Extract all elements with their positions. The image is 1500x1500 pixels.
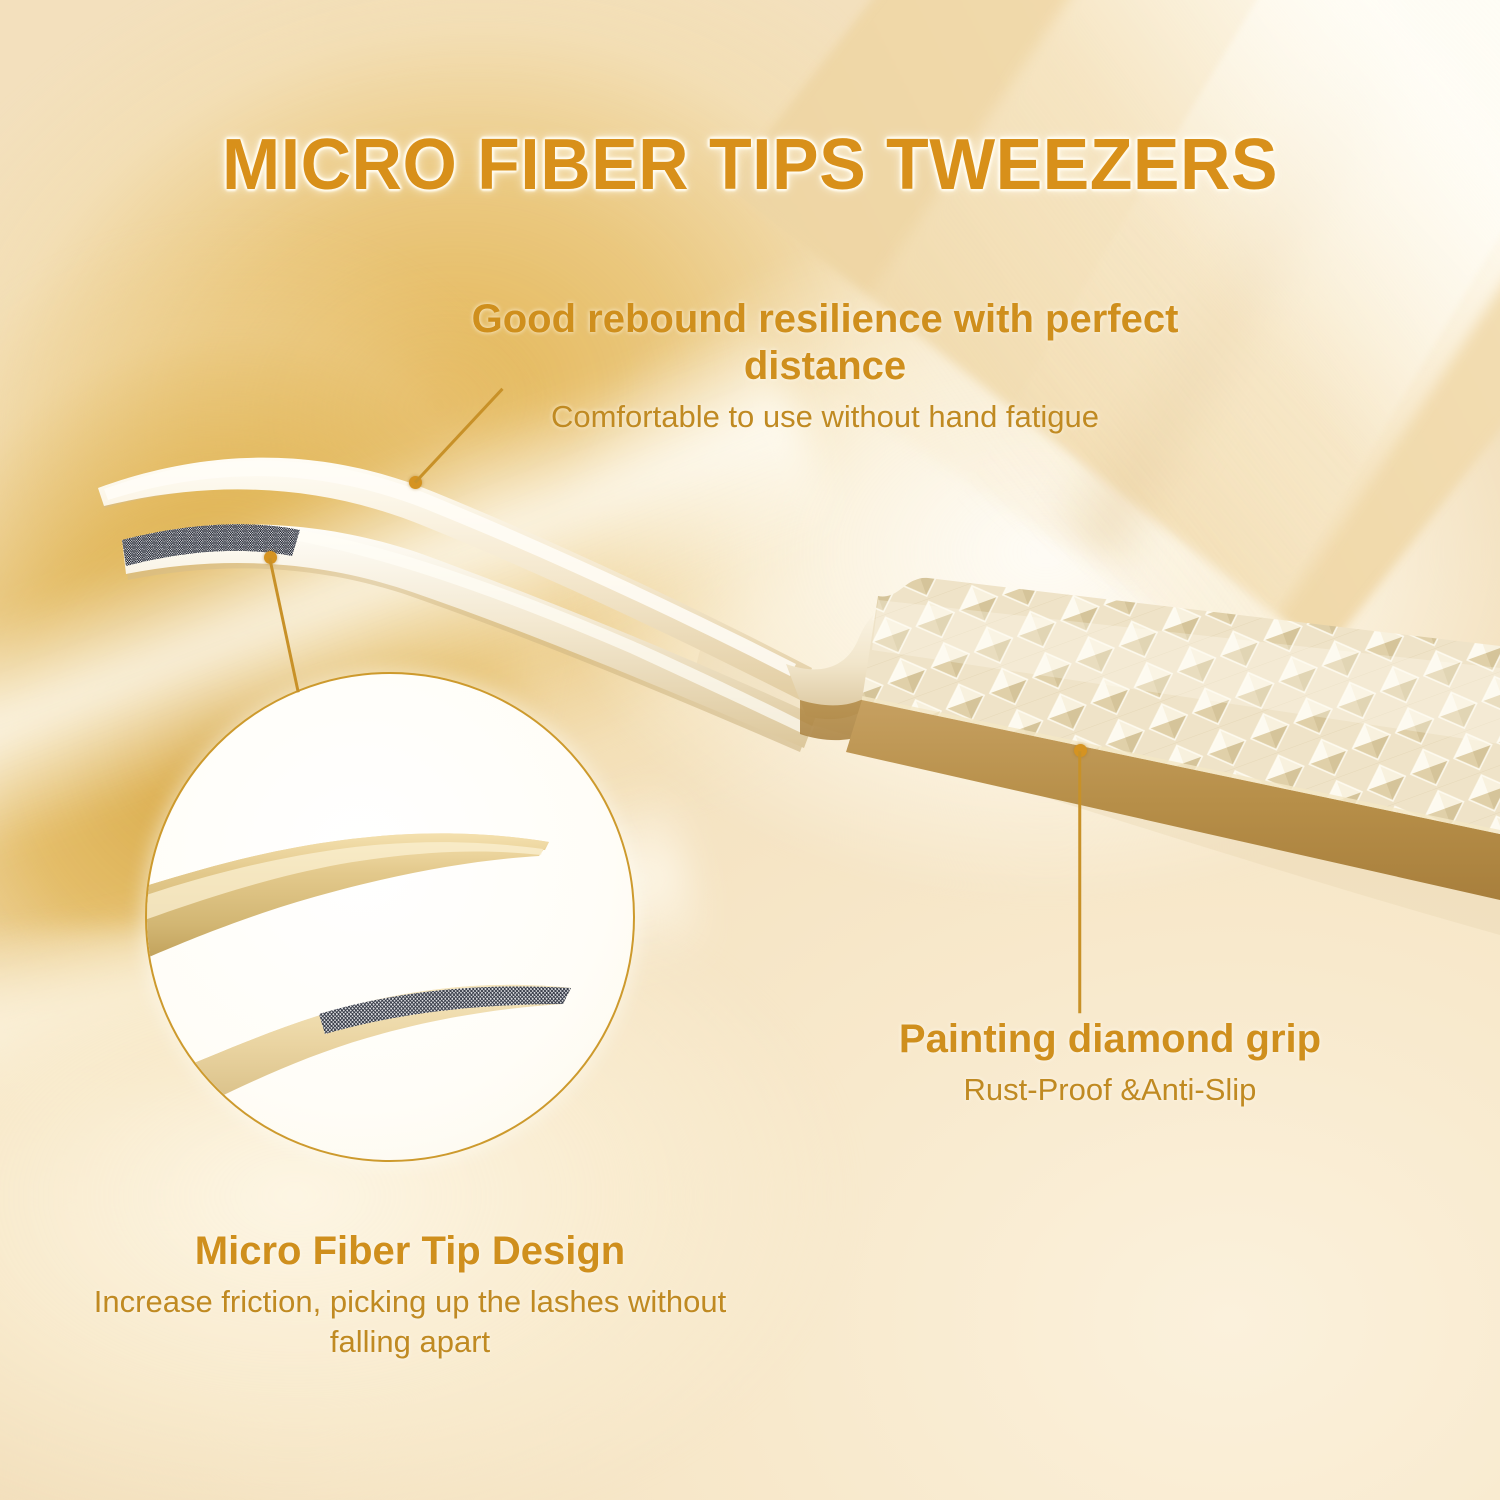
callout-grip-heading: Painting diamond grip [800, 1016, 1420, 1063]
product-infographic: MICRO FIBER TIPS TWEEZERS [0, 0, 1500, 1500]
callout-fiber-tip-heading: Micro Fiber Tip Design [60, 1228, 760, 1275]
callout-grip-subtext: Rust-Proof &Anti-Slip [800, 1070, 1420, 1110]
callout-rebound-subtext: Comfortable to use without hand fatigue [430, 397, 1220, 437]
magnified-lower-tip [165, 970, 587, 1124]
callout-rebound-heading: Good rebound resilience with perfect dis… [430, 296, 1220, 390]
callout-fiber-tip: Micro Fiber Tip Design Increase friction… [60, 1228, 760, 1363]
page-title: MICRO FIBER TIPS TWEEZERS [23, 124, 1478, 206]
magnified-upper-tip [147, 833, 549, 964]
magnified-tip-detail [145, 672, 635, 1162]
callout-fiber-tip-subtext: Increase friction, picking up the lashes… [60, 1282, 760, 1363]
magnified-tips-svg [147, 674, 633, 1160]
leader-line-grip [1079, 751, 1082, 1013]
callout-rebound: Good rebound resilience with perfect dis… [430, 296, 1220, 438]
callout-grip: Painting diamond grip Rust-Proof &Anti-S… [800, 1016, 1420, 1110]
